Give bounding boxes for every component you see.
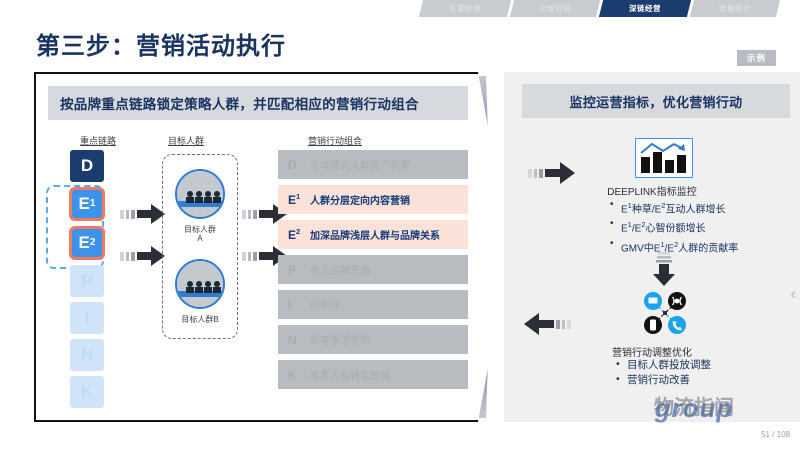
link-letter-i-glyph: I [85, 308, 90, 328]
link-letter-p-glyph: P [81, 271, 92, 291]
action-letter-e2-glyph: E [288, 228, 296, 242]
right-panel-header-text: 监控运营指标，优化营销行动 [570, 92, 743, 111]
arrow-down-icon [652, 252, 676, 286]
page-title: 第三步：营销活动执行 [36, 26, 286, 61]
audience-b-label: 目标人群B [163, 315, 237, 324]
flow-arrow-down [652, 252, 676, 291]
column-header-key-path: 重点链路 [80, 134, 116, 147]
monitor-bullet-2: E1/E2心智份额增长 [610, 217, 738, 236]
tab-liuliang-zhenghe[interactable]: 流量整合 [690, 0, 780, 17]
flow-arrow-e2-to-audience [120, 246, 165, 266]
page-number: 51 / 108 [761, 430, 790, 439]
optimize-bullet-1: 目标人群投放调整 [616, 358, 711, 373]
channels-icon [639, 288, 691, 338]
audience-a-label: 目标人群 A [163, 225, 237, 243]
action-text-e1: 人群分层定向内容营销 [310, 192, 410, 207]
deeplink-letter-column: D E1 E2 P I N K [58, 150, 116, 413]
people-group-icon [177, 171, 225, 219]
top-navigation: 生意经营 全域营销 深链经营 流量整合 [421, 0, 800, 17]
action-letter-n: N [288, 333, 310, 347]
tab-label: 深链经营 [629, 3, 661, 14]
arrow-head-icon [545, 162, 575, 184]
action-letter-d: D [288, 158, 310, 172]
link-letter-i[interactable]: I [70, 302, 104, 334]
action-text-e2: 加深品牌浅层人群与品牌关系 [310, 227, 440, 242]
tab-quanyu-yingxiao[interactable]: 全域营销 [510, 0, 600, 17]
audience-a-label-line2: A [197, 234, 202, 243]
action-text-d: 全域曝光人群资产积累 [310, 157, 410, 172]
action-row-i[interactable]: I 拉新快 [278, 290, 468, 319]
watermark: group 物流指闻 [614, 387, 774, 433]
flow-arrow-into-monitor [528, 162, 575, 184]
monitor-caption: DEEPLINK指标监控 [504, 183, 800, 198]
action-letter-e1-glyph: E [288, 193, 296, 207]
action-combo-list: D 全域曝光人群资产积累 E1 人群分层定向内容营销 E2 加深品牌浅层人群与品… [278, 150, 468, 395]
tab-label: 流量整合 [719, 3, 751, 14]
left-panel: 按品牌重点链路锁定策略人群，并匹配相应的营销行动组合 重点链路 目标人群 营销行… [34, 72, 510, 422]
action-row-d[interactable]: D 全域曝光人群资产积累 [278, 150, 468, 179]
tab-shengyi-jingying[interactable]: 生意经营 [419, 0, 511, 17]
optimize-caption: 营销行动调整优化 [504, 344, 800, 359]
left-panel-header-text: 按品牌重点链路锁定策略人群，并匹配相应的营销行动组合 [48, 93, 419, 113]
optimize-bullet-2: 营销行动改善 [616, 373, 711, 388]
action-letter-i: I [288, 298, 310, 312]
link-letter-k-glyph: K [81, 382, 93, 402]
action-letter-e1-sup: 1 [296, 192, 300, 201]
example-badge: 示例 [737, 50, 776, 66]
action-row-p[interactable]: P 会员招募营销 [278, 255, 468, 284]
scroll-chevron-icon[interactable]: ‹ [790, 284, 796, 304]
action-text-i: 拉新快 [310, 297, 340, 312]
arrow-left-icon [522, 313, 554, 335]
tab-shenlian-jingying[interactable]: 深链经营 [599, 0, 691, 17]
bar-chart-trend-icon [636, 139, 691, 176]
flow-arrow-feedback-left [522, 313, 573, 335]
arrow-head-icon [137, 204, 165, 224]
tab-label: 全域营销 [539, 3, 571, 14]
link-letter-d-glyph: D [81, 156, 93, 176]
left-panel-header: 按品牌重点链路锁定策略人群，并匹配相应的营销行动组合 [48, 86, 468, 120]
action-letter-k: K [288, 368, 310, 382]
link-letter-d[interactable]: D [70, 150, 104, 182]
arrow-head-icon [137, 246, 165, 266]
audience-a-avatar [175, 169, 225, 219]
monitor-bullet-list: E1种草/E2互动人群增长 E1/E2心智份额增长 GMV中E1/E2人群的贡献… [610, 198, 738, 256]
action-letter-p: P [288, 263, 310, 277]
action-letter-e2: E2 [288, 227, 310, 242]
right-panel: 监控运营指标，优化营销行动 DEEPLINK指标监控 E1种草/E2互动人群增 [504, 72, 800, 422]
optimize-bullet-list: 目标人群投放调整 营销行动改善 [616, 358, 711, 388]
slide-root: 生意经营 全域营销 深链经营 流量整合 第三步：营销活动执行 示例 按品牌重点链… [0, 0, 800, 451]
monitor-bullet-1: E1种草/E2互动人群增长 [610, 198, 738, 217]
link-letter-e2[interactable]: E2 [69, 226, 105, 260]
action-row-e2[interactable]: E2 加深品牌浅层人群与品牌关系 [278, 220, 468, 249]
target-audience-box: 目标人群 A 目标人群B [162, 154, 238, 339]
link-letter-e1-glyph: E [79, 194, 90, 214]
right-panel-header: 监控运营指标，优化营销行动 [522, 84, 790, 118]
tab-label: 生意经营 [449, 3, 481, 14]
action-text-n: 新客激活营销 [310, 332, 370, 347]
action-letter-e1: E1 [288, 192, 310, 207]
action-row-n[interactable]: N 新客激活营销 [278, 325, 468, 354]
flow-arrow-e1-to-audience [120, 204, 165, 224]
column-header-action-combo: 营销行动组合 [308, 134, 362, 147]
link-letter-n[interactable]: N [70, 339, 104, 371]
action-row-e1[interactable]: E1 人群分层定向内容营销 [278, 185, 468, 214]
action-text-k: 老客入会转化营销 [310, 367, 390, 382]
link-letter-e1[interactable]: E1 [69, 187, 105, 221]
metrics-chart-icon [635, 138, 693, 178]
people-group-icon [177, 261, 225, 309]
link-letter-e2-glyph: E [79, 233, 90, 253]
action-text-p: 会员招募营销 [310, 262, 370, 277]
watermark-chinese: 物流指闻 [614, 391, 774, 420]
link-letter-n-glyph: N [81, 345, 93, 365]
audience-b-avatar [175, 259, 225, 309]
link-letter-k[interactable]: K [70, 376, 104, 408]
audience-a-label-line1: 目标人群 [184, 225, 216, 234]
action-row-k[interactable]: K 老客入会转化营销 [278, 360, 468, 389]
omnichannel-network-icon [639, 288, 691, 338]
link-letter-p[interactable]: P [70, 265, 104, 297]
column-header-target-audience: 目标人群 [168, 134, 204, 147]
action-letter-e2-sup: 2 [296, 227, 300, 236]
